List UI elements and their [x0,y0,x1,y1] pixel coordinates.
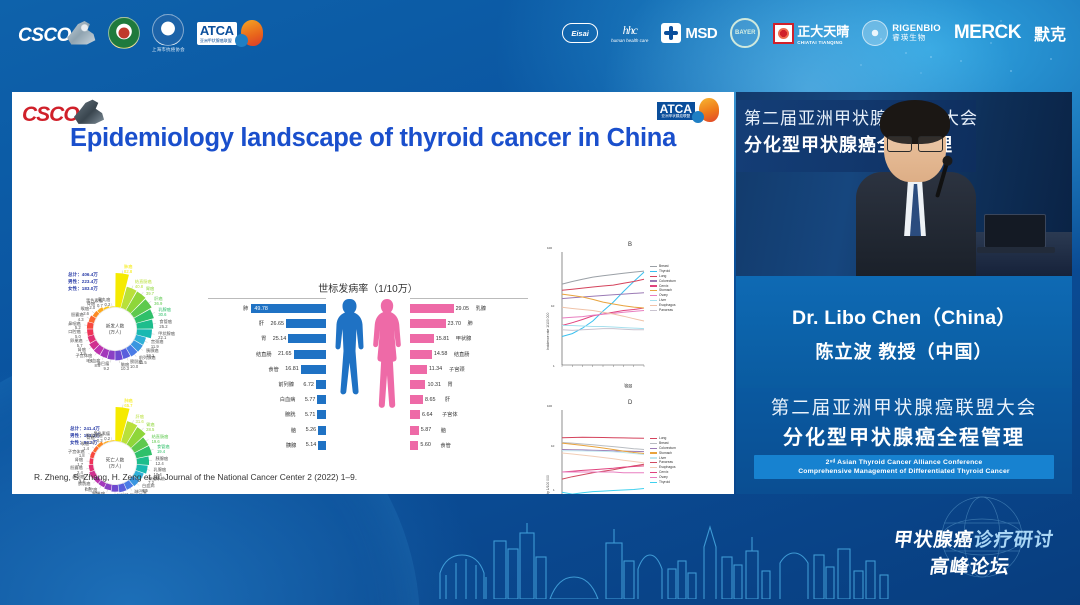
legend-swatch [650,290,657,291]
bar-value-group: 5.60 [410,441,437,450]
donut-slice-label: 睾丸癌0.2 [98,298,111,308]
bar-row: 11.34子宫颈 [410,362,528,377]
bar-category-label: 甲状腺 [453,335,479,342]
legend-swatch [650,266,657,267]
legend-item: Thyroid [650,480,676,485]
speaker-name-en: Dr. Libo Chen（China） [792,301,1016,330]
bar-category-label: 食管 [437,442,463,449]
bar-value: 5.87 [421,427,438,433]
bar-value: 6.64 [422,412,439,418]
rigenbio-globe-icon [862,20,888,46]
bar-value-group: 25.14 [269,334,326,343]
msd-logo-text: MSD [685,25,717,42]
footer-title-bold: 甲状腺癌 [892,530,975,551]
conference-title-cn-line1: 第二届亚洲甲状腺癌联盟大会 [771,394,1038,420]
atca-blob-icon [239,18,265,48]
bar-value-group: 49.78 [251,304,326,313]
header-bar: CSCO 上海市抗癌协会 ATCA 亚洲甲状腺癌联盟 Eisai [0,0,1080,66]
bar [410,380,425,389]
line-chart-b-ylabel: Incidence rate 1/100 000 [546,313,550,350]
bar-chart-body: 肺49.78肝26.65胃25.14结直肠21.65食管16.81前列腺6.72… [208,301,528,471]
presentation-slide[interactable]: CSCO ATCA 亚洲甲状腺癌联盟 Epidemiology landscap… [12,92,734,494]
donut-slice-label: 胰腺癌12.4 [156,457,169,467]
bar-row: 前列腺6.72 [208,377,326,392]
donut-chart-incidence: 新发人数(万人) 总计：406.4万男性：223.4万女性：183.0万 肺癌8… [40,254,190,404]
bayer-logo-text: BAYER [730,18,760,48]
bar [410,334,434,343]
legend-swatch [650,271,657,272]
bar-row: 5.87脑 [410,423,528,438]
bar-category-label: 结直肠 [451,351,477,358]
bar-value: 26.65 [267,321,284,327]
bar [318,426,326,435]
footer-strip: 甲状腺癌诊疗研讨 高峰论坛 [0,497,1080,605]
merck-logo-cn: 默克 [1034,21,1066,45]
atca-logo-abbr: ATCA [200,23,234,38]
bar-value-group: 5.77 [298,395,326,404]
bar-row: 胰腺5.14 [208,438,326,453]
cacm-badge-icon [108,17,140,49]
bar [410,426,419,435]
bar [317,410,326,419]
donut-slice-label: 脑癌10.3 [121,363,129,373]
donut-slice-label: 肝癌31.6 [136,415,144,425]
eisai-logo-text: Eisai [562,23,598,43]
bar-value-group: 5.71 [298,410,326,419]
atca-logo-text: ATCA 亚洲甲状腺癌联盟 [197,22,237,45]
shanghai-badge-icon [152,14,184,46]
bar-value-group: 11.34 [410,365,446,374]
speaker-name-cn: 陈立波 教授（中国） [815,338,992,364]
donut-slice-label: 鼻咽癌5.2 [68,322,81,332]
legend-swatch [650,300,657,301]
bar-value-group: 5.14 [299,441,326,450]
bar-category-label: 肺 [465,320,491,327]
bar-value-group: 6.72 [297,380,326,389]
legend-swatch [650,280,657,281]
bar-row: 脑5.26 [208,423,326,438]
shanghai-badge-label: 上海市抗癌协会 [152,47,185,53]
donut-slice-label: 膀胱癌10.0 [130,360,143,370]
bar-chart-female-axis [410,298,528,299]
bar-row: 结直肠21.65 [208,347,326,362]
bar-row: 10.31胃 [410,377,528,392]
legend-swatch [650,472,657,473]
legend-swatch [650,467,657,468]
sponsor-eisai: Eisai [562,23,598,43]
bar-value-group: 5.26 [299,426,326,435]
slide-citation: R. Zheng, S. Zhang, H. Zeng et al. Journ… [34,472,357,482]
legend-swatch [650,438,657,439]
legend-swatch [650,310,657,311]
donut-slice-label: 胃癌28.5 [146,423,154,433]
conference-title-en-block: 2ⁿᵈ Asian Thyroid Cancer Alliance Confer… [754,455,1054,479]
slide-atca-sub: 亚洲甲状腺癌联盟 [660,115,692,119]
donut-slice-label: 卵巢癌5.7 [70,339,83,349]
bar-value-group: 8.65 [410,395,442,404]
footer-title: 甲状腺癌诊疗研讨 高峰论坛 [888,525,1056,579]
line-chart-d-xlabel: Year [624,384,632,389]
bar-value: 5.77 [298,397,315,403]
bar-row: 14.58结直肠 [410,347,528,362]
bar [286,319,326,328]
bar-row: 8.65肝 [410,392,528,407]
bar-category-label: 子宫颈 [446,366,472,373]
line-chart-b-legend: Breast Thyroid Lung Colorectum Cervix St… [650,264,676,313]
hhc-logo-text: hhc [623,23,637,38]
bar [294,350,326,359]
bar-value: 49.78 [254,306,268,312]
bar [410,395,423,404]
slide-csco-logo: CSCO [22,98,105,127]
footer-title-line2: 高峰论坛 [888,552,1052,579]
bar-value: 8.65 [425,397,442,403]
footer-title-dim: 诊疗研讨 [972,530,1055,551]
line-chart-d-ytick-1: 10 [551,444,554,448]
atca-logo: ATCA 亚洲甲状腺癌联盟 [197,18,265,48]
bar-value: 25.14 [269,336,286,342]
bar-value: 23.70 [448,321,465,327]
bar [410,304,454,313]
donut-mortality-center-label: 死亡人数(万人) [95,457,135,468]
donut-slice-label: 食管癌25.2 [159,320,172,330]
rigenbio-text-block: RIGENBIO 睿瑛生物 [892,24,941,42]
donut-slice-label: 口腔癌5.0 [68,330,81,340]
line-chart-b-graphic [540,242,732,387]
bar-category-label: 食管 [256,366,282,373]
app-root: CSCO 上海市抗癌协会 ATCA 亚洲甲状腺癌联盟 Eisai [0,0,1080,605]
bar-category-label: 胃 [243,335,269,342]
line-chart-b-label: B [628,242,632,248]
legend-swatch [650,276,657,277]
bar-value-group: 5.87 [410,426,438,435]
csco-logo-text: CSCO [18,25,71,47]
donut-slice-label: 肺癌82.8 [124,265,132,275]
sponsor-chiatai-tianqing: 正大天晴 CHIATAI TIANQING [773,21,849,45]
bar-category-label: 乳腺 [473,305,499,312]
sponsor-hhc: hhc human health care [611,23,648,43]
slide-title: Epidemiology landscape of thyroid cancer… [12,124,734,153]
legend-swatch [650,443,657,444]
donut-slice-label: 肝癌36.9 [154,297,162,307]
line-charts-panel: B Incidence rate 1/100 000 100 10 1 Year… [540,242,732,494]
line-chart-b-ytick-top: 100 [547,246,552,250]
legend-swatch [650,452,657,453]
bar-row: 6.64子宫体 [410,407,528,422]
bar-value: 29.05 [456,306,473,312]
bar-row: 15.81甲状腺 [410,331,528,346]
bar-value-group: 14.58 [410,350,451,359]
laptop-icon [984,214,1046,248]
legend-swatch [650,295,657,296]
bar-category-label: 结直肠 [249,351,275,358]
msd-cross-icon [661,23,681,43]
bar-value-group: 29.05 [410,304,473,313]
bar-chart-incidence-by-sex: 世标发病率（1/10万） 肺49.78肝26.65胃25.14结直肠21.65食… [208,280,528,485]
bar-category-label: 脑 [273,427,299,434]
bar-row: 白血病5.77 [208,392,326,407]
bar-category-label: 膀胱 [272,411,298,418]
legend-swatch [650,477,657,478]
chiatai-sun-icon [773,23,794,44]
rigenbio-logo-cn: 睿瑛生物 [892,34,941,42]
slide-atca-logo: ATCA 亚洲甲状腺癌联盟 [657,97,720,125]
bar-row: 5.60食管 [410,438,528,453]
legend-swatch [650,285,657,286]
sponsor-rigenbio: RIGENBIO 睿瑛生物 [862,20,941,46]
chiatai-text-block: 正大天晴 CHIATAI TIANQING [797,21,849,45]
merck-logo-text: MERCK [954,22,1021,44]
bar [316,380,326,389]
video-feed[interactable]: 第二届亚洲甲状腺癌联盟大会 分化型甲状腺癌全程管理 [736,92,1072,276]
line-chart-b-ytick-bot: 1 [553,364,555,368]
bar-value: 5.14 [299,442,316,448]
line-chart-d-ytick-2: 1 [553,488,555,492]
male-figure-icon [334,297,364,449]
donut-incidence-stats: 总计：406.4万男性：223.4万女性：183.0万 [68,272,98,293]
legend-swatch [650,448,657,449]
line-chart-d-legend: Lung Breast Colorectum Stomach Liver Pan… [650,436,676,485]
chiatai-logo-en: CHIATAI TIANQING [797,40,849,45]
legend-item: Pancreas [650,308,676,313]
line-chart-b-ytick-mid: 10 [551,304,554,308]
bar-value: 5.26 [299,427,316,433]
bar [318,441,326,450]
bar [410,350,432,359]
donut-incidence-center-label: 新发人数(万人) [95,323,135,334]
conference-title-en-line1: 2ⁿᵈ Asian Thyroid Cancer Alliance Confer… [756,458,1052,467]
female-figure-icon [372,297,402,449]
bar-category-label: 胃 [444,381,470,388]
legend-swatch [650,457,657,458]
csco-logo: CSCO [18,20,96,47]
bar-value: 5.60 [420,442,437,448]
bar [288,334,326,343]
bar-value: 10.31 [427,382,444,388]
slide-atca-blob-icon [696,97,720,125]
atca-logo-sub: 亚洲甲状腺癌联盟 [200,38,234,44]
shanghai-badge: 上海市抗癌协会 [152,14,185,53]
bar-value: 16.81 [282,366,299,372]
bar [317,395,326,404]
line-chart-d-ytick-0: 100 [547,404,552,408]
bar [410,410,420,419]
bar-category-label: 胰腺 [273,442,299,449]
bar-chart-male-side: 肺49.78肝26.65胃25.14结直肠21.65食管16.81前列腺6.72… [208,301,326,453]
conference-banner: 第二届亚洲甲状腺癌联盟大会 分化型甲状腺癌全程管理 2ⁿᵈ Asian Thyr… [736,388,1072,494]
bar-row: 肺49.78 [208,301,326,316]
bar-category-label: 白血病 [272,396,298,403]
bar-row: 23.70肺 [410,316,528,331]
footer-title-line1: 甲状腺癌诊疗研讨 [892,525,1056,552]
bar-value-group: 16.81 [282,365,326,374]
chiatai-logo-cn: 正大天晴 [797,21,849,40]
legend-label: Pancreas [659,308,673,313]
bar [301,365,326,374]
bar-category-label: 前列腺 [271,381,297,388]
donut-slice-label: 肾癌7.9 [78,348,86,358]
bar-value-group: 26.65 [267,319,326,328]
header-left-logos: CSCO 上海市抗癌协会 ATCA 亚洲甲状腺癌联盟 [18,14,265,53]
gender-figures [334,297,402,449]
line-chart-d-graphic [540,392,732,494]
bar-category-label: 肝 [442,396,468,403]
bar-value-group: 21.65 [275,350,326,359]
header-sponsor-logos: Eisai hhc human health care MSD BAYER 正大… [562,18,1066,48]
legend-swatch [650,462,657,463]
bar-value: 6.72 [297,382,314,388]
slide-atca-text: ATCA 亚洲甲状腺癌联盟 [657,102,695,120]
city-skyline-icon [430,513,930,599]
hhc-logo-sub: human health care [611,38,648,43]
bar [410,319,446,328]
bar-value: 15.81 [436,336,453,342]
donut-slice-label: 肾癌1.7 [75,458,83,468]
donut-slice-label: 胃癌39.7 [146,287,154,297]
legend-swatch [650,482,657,483]
speaker-nameplate: Dr. Libo Chen（China） 陈立波 教授（中国） [736,276,1072,388]
bar [410,365,427,374]
bar-value-group: 23.70 [410,319,465,328]
line-chart-d-label: D [628,400,632,406]
bar-row: 胃25.14 [208,331,326,346]
bar-row: 肝26.65 [208,316,326,331]
bar-chart-male-axis [208,298,326,299]
donut-slice-label: 乳腺癌30.6 [158,308,171,318]
legend-label: Thyroid [659,480,670,485]
bar-chart-female-side: 29.05乳腺23.70肺15.81甲状腺14.58结直肠11.34子宫颈10.… [410,301,528,453]
line-chart-d-ylabel: Mortality 1/100 000 [546,475,550,494]
bar: 49.78 [251,304,326,313]
legend-swatch [650,305,657,306]
bar-value-group: 15.81 [410,334,453,343]
bar-row: 29.05乳腺 [410,301,528,316]
bar-value: 5.71 [298,412,315,418]
conference-title-en-line2: Comprehensive Management of Differentiat… [756,467,1052,476]
donut-slice-label: 肺癌65.7 [124,399,132,409]
bar-category-label: 子宫体 [439,411,465,418]
bar-value: 14.58 [434,351,451,357]
bar-value: 21.65 [275,351,292,357]
bar-row: 膀胱5.71 [208,407,326,422]
donut-slice-label: 食管癌19.4 [157,445,170,455]
donut-slice-label: 黑色素瘤0.2 [93,432,110,442]
bar-row: 食管16.81 [208,362,326,377]
bar-category-label: 脑 [438,427,464,434]
conference-title-cn-line2: 分化型甲状腺癌全程管理 [783,421,1025,450]
sponsor-msd: MSD [661,23,717,43]
bar [410,441,418,450]
bar-value-group: 6.64 [410,410,439,419]
bar-value-group: 10.31 [410,380,444,389]
bar-value: 11.34 [429,366,446,372]
line-chart-mortality: D Mortality 1/100 000 100 10 1 0.1 Year … [540,392,732,494]
line-chart-incidence: B Incidence rate 1/100 000 100 10 1 Year… [540,242,732,387]
bar-category-label: 肺 [225,305,251,312]
speaker-glasses-icon [887,136,943,151]
bar-chart-title: 世标发病率（1/10万） [208,280,528,295]
bar-category-label: 肝 [241,320,267,327]
